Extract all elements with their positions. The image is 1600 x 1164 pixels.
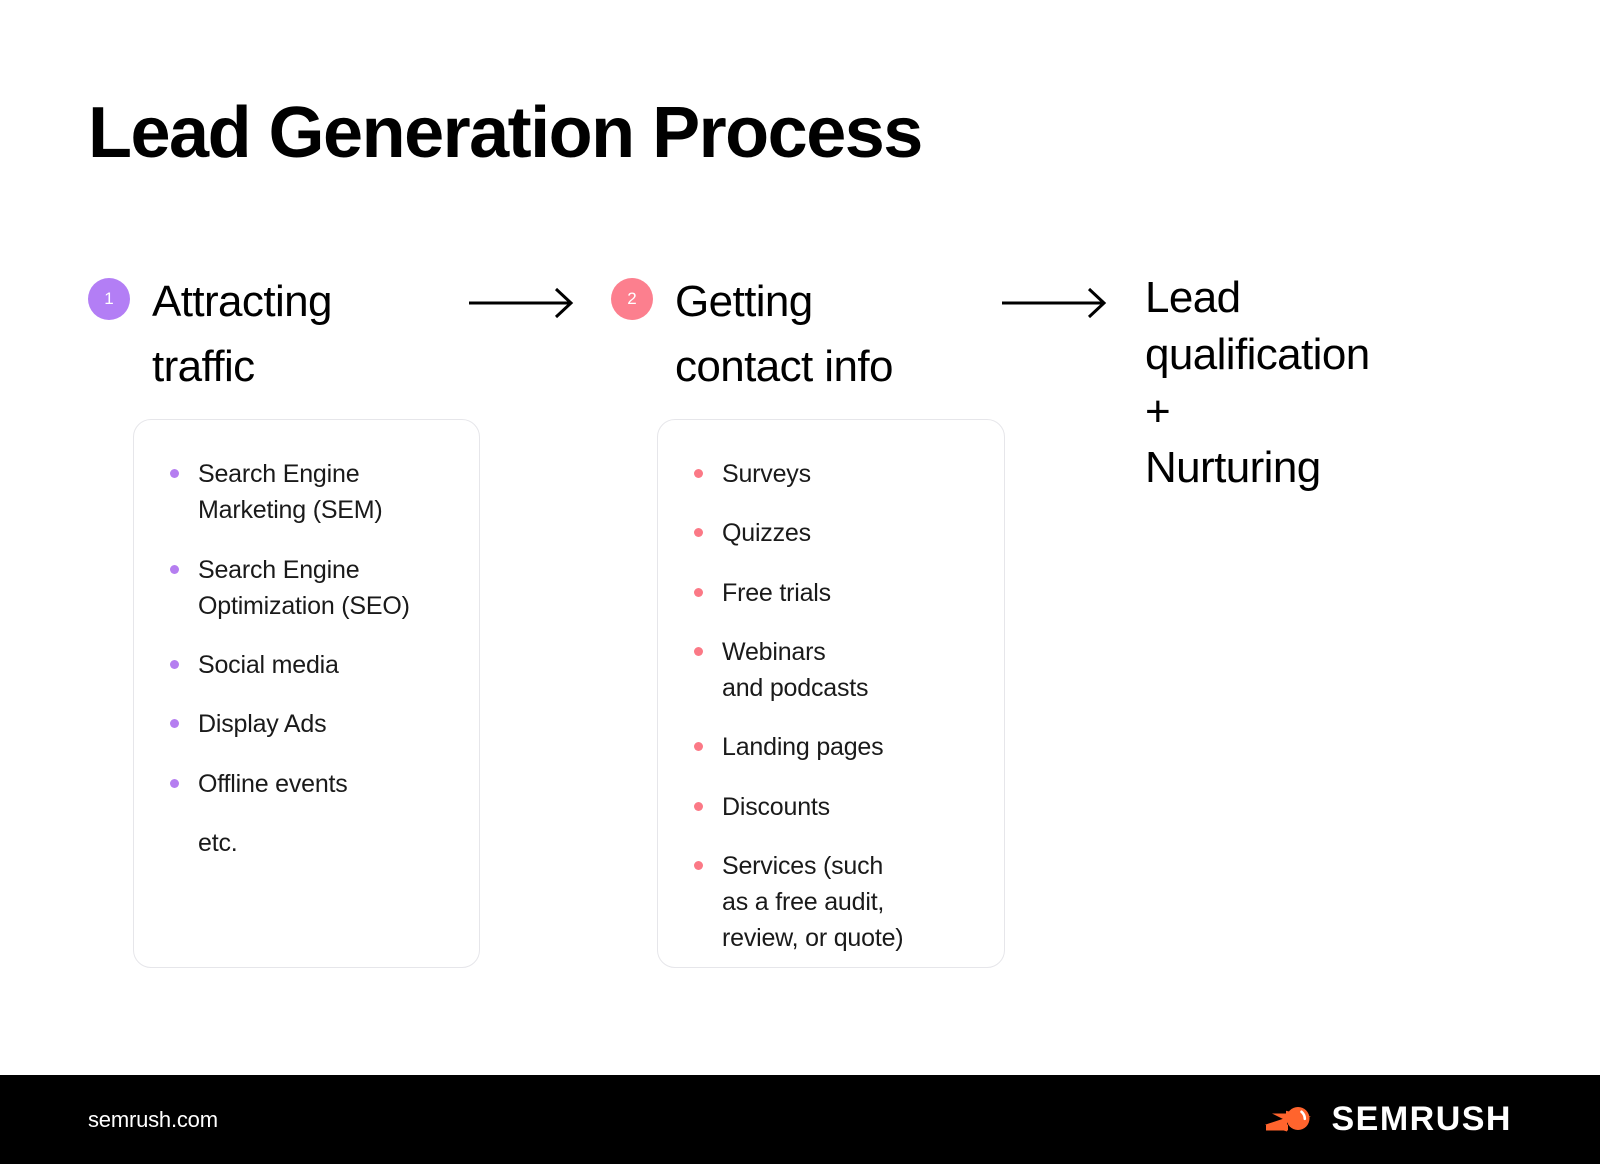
step-1-card: Search Engine Marketing (SEM) Search Eng… (133, 419, 480, 968)
semrush-wordmark: SEMRUSH (1331, 1100, 1512, 1139)
step-1-list: Search Engine Marketing (SEM) Search Eng… (134, 420, 479, 861)
bullet-dot-icon (694, 742, 703, 751)
list-item-label: Services (such as a free audit, review, … (722, 852, 903, 953)
list-item: Offline events (170, 766, 461, 802)
bullet-dot-icon (170, 469, 179, 478)
step-2-card: Surveys Quizzes Free trials Webinars and… (657, 419, 1005, 968)
step-1-header: 1 Attracting traffic (88, 270, 332, 399)
arrow-step1-to-step2-icon (467, 283, 577, 323)
step-3-title: Lead qualification + Nurturing (1145, 270, 1565, 497)
bullet-dot-icon (694, 528, 703, 537)
list-item: Social media (170, 647, 461, 683)
bullet-dot-icon (694, 802, 703, 811)
list-item: Surveys (694, 456, 986, 492)
semrush-comet-icon (1263, 1098, 1317, 1141)
list-item: Search Engine Marketing (SEM) (170, 456, 461, 529)
list-item: Free trials (694, 575, 986, 611)
step-2-list: Surveys Quizzes Free trials Webinars and… (658, 420, 1004, 957)
bullet-dot-icon (170, 660, 179, 669)
list-item-label: Offline events (198, 770, 348, 798)
list-item-label: Landing pages (722, 733, 883, 761)
list-item-label: etc. (198, 829, 238, 857)
step-2-title: Getting contact info (675, 270, 893, 399)
infographic-canvas: Lead Generation Process 1 Attracting tra… (0, 0, 1600, 1164)
list-item-label: Free trials (722, 579, 831, 607)
list-item: Webinars and podcasts (694, 634, 986, 707)
step-2-header: 2 Getting contact info (611, 270, 893, 399)
page-title: Lead Generation Process (88, 97, 922, 169)
bullet-dot-icon (694, 861, 703, 870)
semrush-logo[interactable]: SEMRUSH (1263, 1098, 1512, 1141)
step-1-badge: 1 (88, 278, 130, 320)
list-item: Discounts (694, 789, 986, 825)
list-item-label: Search Engine Optimization (SEO) (198, 556, 410, 620)
list-item-etc: etc. (170, 825, 461, 861)
list-item: Landing pages (694, 729, 986, 765)
bullet-dot-icon (170, 779, 179, 788)
step-2-badge: 2 (611, 278, 653, 320)
list-item-label: Display Ads (198, 710, 326, 738)
footer-bar: semrush.com SEMRUSH (0, 1075, 1600, 1164)
bullet-dot-icon (170, 565, 179, 574)
list-item-label: Webinars and podcasts (722, 638, 868, 702)
list-item: Quizzes (694, 515, 986, 551)
bullet-dot-icon (694, 588, 703, 597)
list-item: Services (such as a free audit, review, … (694, 848, 986, 957)
list-item: Display Ads (170, 706, 461, 742)
bullet-dot-icon (170, 719, 179, 728)
step-1-title: Attracting traffic (152, 270, 332, 399)
list-item-label: Search Engine Marketing (SEM) (198, 460, 383, 524)
list-item: Search Engine Optimization (SEO) (170, 552, 461, 625)
arrow-step2-to-step3-icon (1000, 283, 1110, 323)
bullet-dot-icon (694, 469, 703, 478)
footer-website-url[interactable]: semrush.com (88, 1107, 218, 1133)
list-item-label: Discounts (722, 793, 830, 821)
list-item-label: Social media (198, 651, 339, 679)
list-item-label: Surveys (722, 460, 811, 488)
bullet-dot-icon (694, 647, 703, 656)
list-item-label: Quizzes (722, 519, 811, 547)
